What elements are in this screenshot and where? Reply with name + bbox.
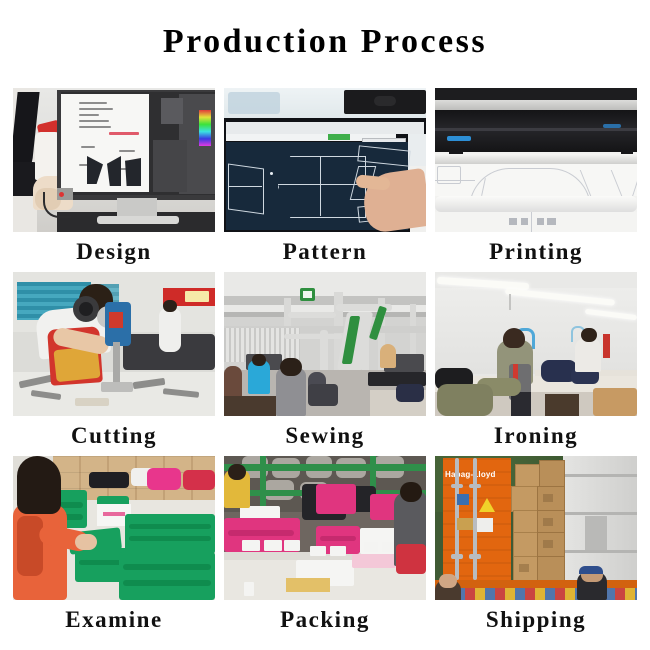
caption-sewing: Sewing (224, 416, 426, 456)
process-cell-design[interactable]: Design (13, 88, 215, 272)
caption-packing: Packing (224, 600, 426, 640)
caption-examine: Examine (13, 600, 215, 640)
caption-printing: Printing (435, 232, 637, 272)
examine-table-photo (13, 456, 215, 600)
printing-plotter-photo (435, 88, 637, 232)
process-cell-shipping[interactable]: Hapag-Lloyd Shipping (435, 456, 637, 640)
process-cell-printing[interactable]: Printing (435, 88, 637, 272)
cutting-machine-photo (13, 272, 215, 416)
process-cell-ironing[interactable]: Ironing (435, 272, 637, 456)
page-title: Production Process (0, 22, 650, 62)
process-grid: Design (13, 88, 637, 640)
production-process-page: Production Process (0, 0, 650, 650)
process-cell-cutting[interactable]: Cutting (13, 272, 215, 456)
process-cell-pattern[interactable]: Pattern (224, 88, 426, 272)
sewing-line-photo (224, 272, 426, 416)
container-brand-text: Hapag-Lloyd (445, 470, 497, 480)
caption-ironing: Ironing (435, 416, 637, 456)
caption-shipping: Shipping (435, 600, 637, 640)
process-cell-packing[interactable]: Packing (224, 456, 426, 640)
caption-design: Design (13, 232, 215, 272)
pattern-cad-photo (224, 88, 426, 232)
packing-table-photo (224, 456, 426, 600)
process-cell-sewing[interactable]: Sewing (224, 272, 426, 456)
shipping-container-photo: Hapag-Lloyd (435, 456, 637, 600)
caption-pattern: Pattern (224, 232, 426, 272)
design-monitor-photo (13, 88, 215, 232)
caption-cutting: Cutting (13, 416, 215, 456)
process-cell-examine[interactable]: Examine (13, 456, 215, 640)
ironing-room-photo (435, 272, 637, 416)
